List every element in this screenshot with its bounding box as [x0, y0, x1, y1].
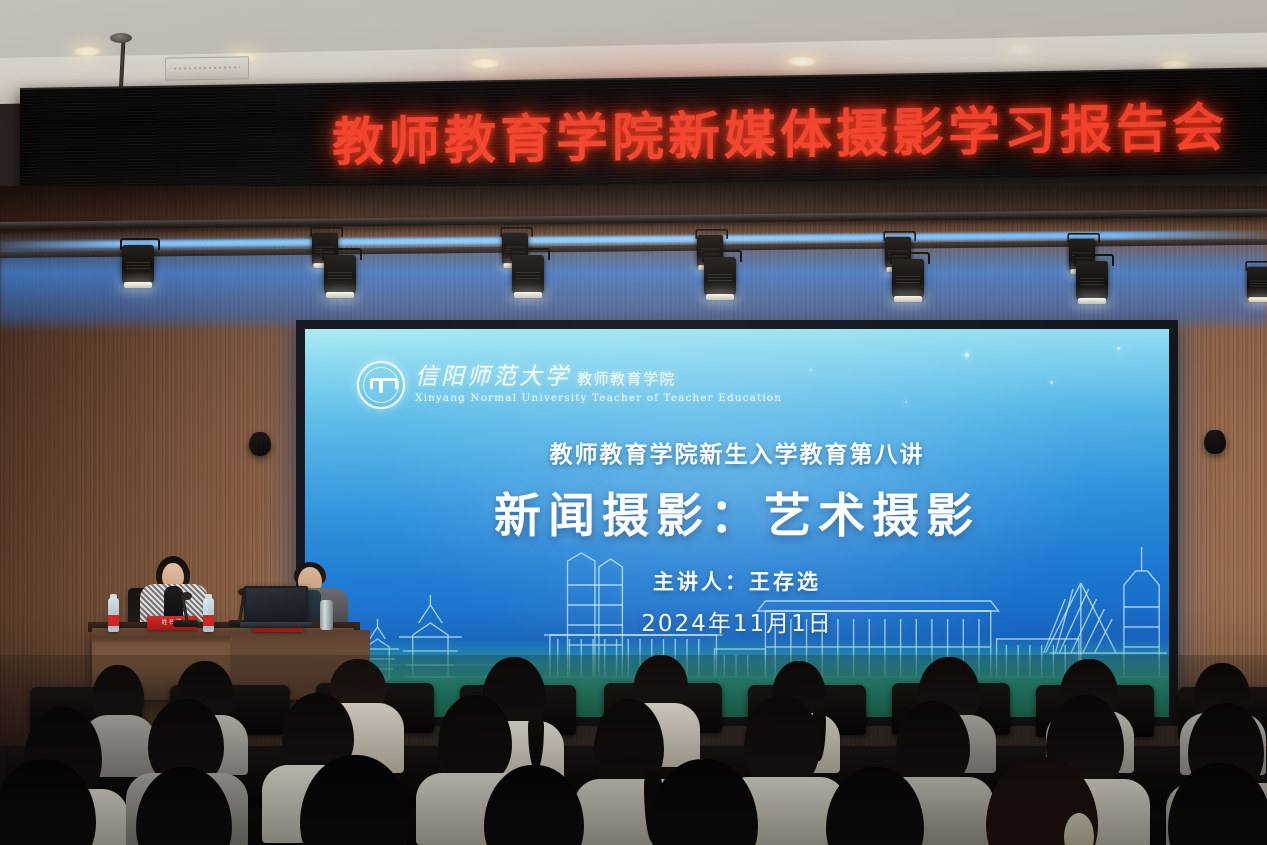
stage-spotlight-icon — [320, 248, 360, 304]
audience — [0, 655, 1267, 845]
slide-logo-cn: 信阳师范大学教师教育学院 — [415, 366, 782, 389]
stage-spotlight-icon — [508, 248, 548, 304]
laptop-base — [240, 622, 312, 628]
thermos-flask — [320, 600, 333, 630]
ac-vent — [165, 56, 249, 80]
laptop[interactable] — [244, 586, 308, 624]
downlight-icon — [72, 46, 102, 57]
led-banner-text: 教师教育学院新媒体摄影学习报告会 — [20, 84, 1267, 180]
downlight-icon — [1005, 44, 1035, 55]
bottle-cap — [110, 594, 117, 599]
led-banner: 教师教育学院新媒体摄影学习报告会 — [20, 69, 1267, 195]
stage-spotlight-icon — [1072, 254, 1112, 310]
bottle-cap — [205, 594, 212, 599]
water-bottle — [108, 598, 119, 632]
microphone-icon — [181, 592, 192, 600]
slide-title: 新闻摄影：艺术摄影 — [305, 477, 1169, 546]
stage-spotlight-icon — [700, 250, 740, 306]
slide-date: 2024年11月1日 — [305, 604, 1169, 638]
slide-subtitle: 教师教育学院新生入学教育第八讲 — [305, 435, 1169, 469]
lecture-hall-photo: 教师教育学院新媒体摄影学习报告会 — [0, 0, 1267, 845]
stage-spotlight-icon — [888, 252, 928, 308]
slide-logo-en: Xinyang Normal University Teacher of Tea… — [415, 393, 782, 404]
downlight-icon — [787, 56, 817, 67]
ceiling-microphone-icon — [110, 33, 132, 43]
wall-speaker-icon — [249, 432, 271, 456]
downlight-icon — [470, 58, 500, 69]
microphone-base — [173, 620, 199, 627]
slide-speaker: 主讲人：王存选 — [305, 566, 1169, 596]
water-bottle — [203, 598, 214, 632]
wall-speaker-icon — [1204, 430, 1226, 454]
stage-spotlight-icon — [1244, 261, 1267, 307]
slide-logo: 信阳师范大学教师教育学院 Xinyang Normal University T… — [357, 361, 782, 409]
stage-spotlight-icon — [118, 238, 158, 294]
university-emblem-icon — [357, 361, 405, 409]
